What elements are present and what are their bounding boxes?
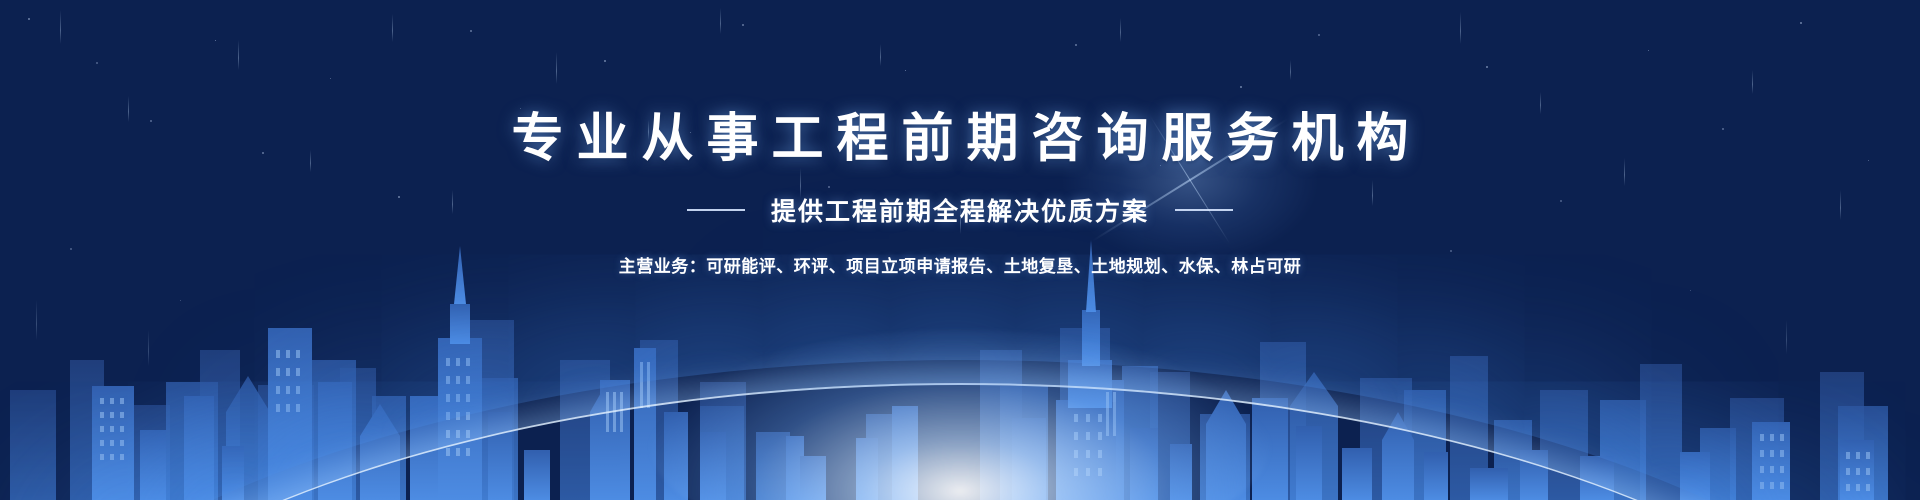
hero-banner: 专业从事工程前期咨询服务机构 提供工程前期全程解决优质方案 主营业务：可研能评、… <box>0 0 1920 500</box>
right-rule-decoration <box>1175 209 1233 211</box>
subtitle-row: 提供工程前期全程解决优质方案 <box>687 192 1233 228</box>
banner-text-block: 专业从事工程前期咨询服务机构 提供工程前期全程解决优质方案 主营业务：可研能评、… <box>0 0 1920 500</box>
page-title: 专业从事工程前期咨询服务机构 <box>498 113 1421 165</box>
left-rule-decoration <box>687 209 745 211</box>
business-scope-text: 主营业务：可研能评、环评、项目立项申请报告、土地复垦、土地规划、水保、林占可研 <box>619 252 1302 277</box>
page-subtitle: 提供工程前期全程解决优质方案 <box>771 192 1149 228</box>
